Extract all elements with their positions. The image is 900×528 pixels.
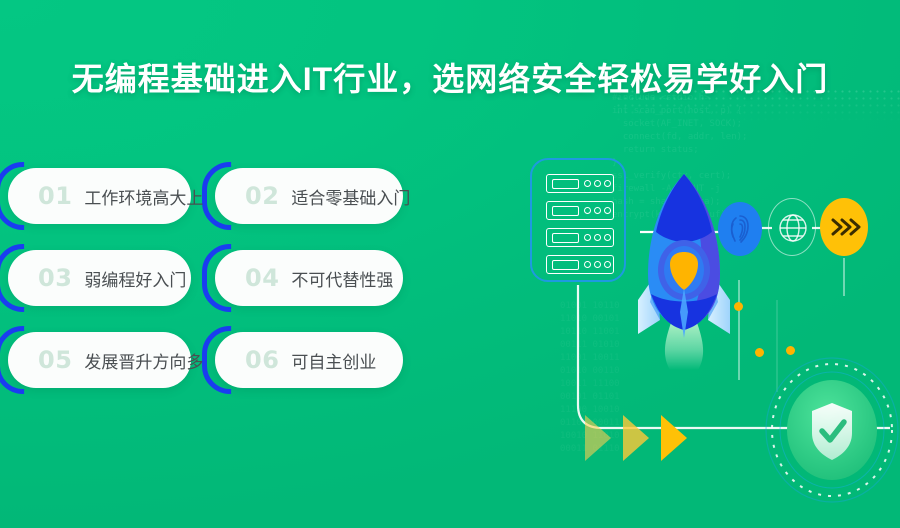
guide-line <box>738 280 740 380</box>
shield-check-icon <box>762 355 900 505</box>
triangle-arrow-icon <box>585 415 611 461</box>
server-unit <box>546 174 614 193</box>
feature-item-01[interactable]: 01 工作环境高大上 <box>8 168 191 224</box>
server-bar-icon <box>552 260 579 270</box>
feature-item-06[interactable]: 06 可自主创业 <box>215 332 403 388</box>
rocket-icon <box>620 170 748 370</box>
server-unit <box>546 255 614 274</box>
feature-number: 03 <box>38 264 72 292</box>
server-bar-icon <box>552 233 579 243</box>
server-rack-icon <box>530 158 626 282</box>
feature-label: 工作环境高大上 <box>84 184 203 209</box>
accent-dot <box>734 302 743 311</box>
triangle-arrow-icon <box>661 415 687 461</box>
chevrons-right-icon <box>820 198 868 256</box>
server-unit <box>546 201 614 220</box>
security-illustration <box>490 110 900 520</box>
feature-item-05[interactable]: 05 发展晋升方向多 <box>8 332 191 388</box>
feature-label: 可自主创业 <box>291 348 376 373</box>
feature-item-02[interactable]: 02 适合零基础入门 <box>215 168 403 224</box>
server-leds-icon <box>584 180 611 187</box>
feature-label: 发展晋升方向多 <box>84 348 203 373</box>
server-bar-icon <box>552 179 579 189</box>
feature-item-03[interactable]: 03 弱编程好入门 <box>8 250 191 306</box>
feature-label: 弱编程好入门 <box>84 266 186 291</box>
page-title: 无编程基础进入IT行业，选网络安全轻松易学好入门 <box>0 54 900 100</box>
feature-item-04[interactable]: 04 不可代替性强 <box>215 250 403 306</box>
server-leds-icon <box>584 234 611 241</box>
feature-number: 02 <box>245 182 279 210</box>
feature-number: 06 <box>245 346 279 374</box>
feature-label: 适合零基础入门 <box>291 184 410 209</box>
server-leds-icon <box>584 207 611 214</box>
feature-label: 不可代替性强 <box>291 266 393 291</box>
accent-dot <box>786 346 795 355</box>
server-unit <box>546 228 614 247</box>
triangle-arrow-icon <box>623 415 649 461</box>
feature-number: 05 <box>38 346 72 374</box>
globe-icon <box>768 198 816 256</box>
flow-arrows <box>585 415 785 461</box>
feature-number: 04 <box>245 264 279 292</box>
fingerprint-icon <box>718 202 762 256</box>
server-leds-icon <box>584 261 611 268</box>
poster-canvas: #include <stdio.h> int scan_port(host, p… <box>0 0 900 528</box>
server-bar-icon <box>552 206 579 216</box>
feature-list: 01 工作环境高大上 02 适合零基础入门 03 弱编程好入门 04 不可代替性… <box>0 168 460 418</box>
feature-number: 01 <box>38 182 72 210</box>
